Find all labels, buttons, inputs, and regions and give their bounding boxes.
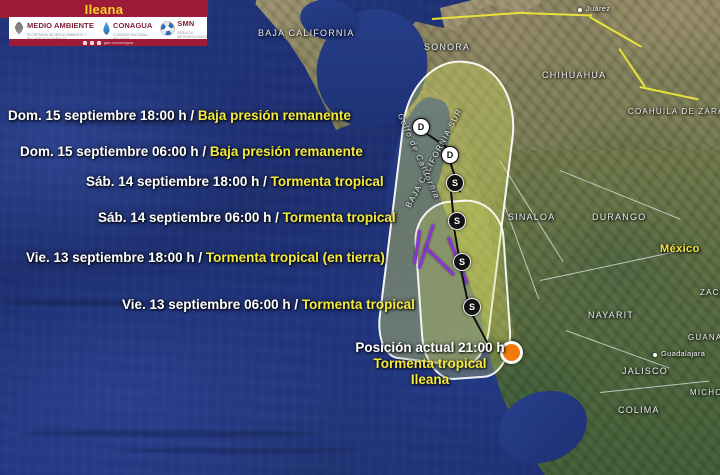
forecast-category: Baja presión remanente — [198, 108, 351, 123]
social-icon[interactable] — [90, 41, 94, 45]
forecast-separator: / — [198, 250, 202, 265]
forecast-category: Tormenta tropical (en tierra) — [206, 250, 385, 265]
forecast-line-1: Dom. 15 septiembre 06:00 h / Baja presió… — [20, 144, 363, 159]
track-marker-depression[interactable]: D — [441, 146, 459, 164]
logo-medio-ambiente: MEDIO AMBIENTE SECRETARIA DE MEDIO AMBIE… — [9, 17, 98, 39]
track-marker-storm[interactable]: S — [448, 212, 466, 230]
forecast-datetime: Vie. 13 septiembre 18:00 h — [26, 250, 195, 265]
forecast-separator: / — [275, 210, 279, 225]
eagle-emblem-icon — [13, 22, 25, 35]
current-position-name: Ileana — [330, 372, 530, 387]
track-marker-storm[interactable]: S — [453, 253, 471, 271]
forecast-line-0: Dom. 15 septiembre 18:00 h / Baja presió… — [8, 108, 351, 123]
water-drop-icon — [102, 22, 111, 35]
forecast-category: Tormenta tropical — [302, 297, 415, 312]
forecast-line-4: Vie. 13 septiembre 18:00 h / Tormenta tr… — [26, 250, 385, 265]
forecast-datetime: Sáb. 14 septiembre 06:00 h — [98, 210, 271, 225]
header-footer-bar: gob.mx/conagua — [9, 39, 207, 46]
logo-title: SMN — [177, 19, 194, 28]
forecast-separator: / — [190, 108, 194, 123]
ocean-streak — [120, 448, 360, 453]
city-dot-juarez — [578, 8, 582, 12]
forecast-separator: / — [294, 297, 298, 312]
ocean-streak — [20, 430, 320, 437]
header-panel: Ileana MEDIO AMBIENTE SECRETARIA DE MEDI… — [0, 0, 208, 46]
forecast-separator: / — [202, 144, 206, 159]
current-position-callout: Posición actual 21:00 h Tormenta tropica… — [330, 340, 530, 387]
logo-title: CONAGUA — [113, 21, 152, 30]
header-footer-text: gob.mx/conagua — [104, 41, 133, 45]
logo-title: MEDIO AMBIENTE — [27, 21, 94, 30]
forecast-category: Tormenta tropical — [283, 210, 396, 225]
track-marker-depression[interactable]: D — [412, 118, 430, 136]
hurricane-track-map: D D S S S S BAJA CALIFORNIA BAJA CALIFOR… — [0, 0, 720, 475]
forecast-datetime: Dom. 15 septiembre 18:00 h — [8, 108, 187, 123]
social-icon[interactable] — [83, 41, 87, 45]
smn-compass-icon — [160, 21, 175, 36]
current-position-time: Posición actual 21:00 h — [330, 340, 530, 355]
logo-conagua: CONAGUA COMISION NACIONAL DEL AGUA — [98, 17, 156, 39]
social-icon[interactable] — [97, 41, 101, 45]
forecast-line-3: Sáb. 14 septiembre 06:00 h / Tormenta tr… — [98, 210, 396, 225]
agency-logo-bar: MEDIO AMBIENTE SECRETARIA DE MEDIO AMBIE… — [9, 17, 207, 40]
forecast-datetime: Vie. 13 septiembre 06:00 h — [122, 297, 291, 312]
track-marker-storm[interactable]: S — [463, 298, 481, 316]
forecast-datetime: Dom. 15 septiembre 06:00 h — [20, 144, 199, 159]
forecast-datetime: Sáb. 14 septiembre 18:00 h — [86, 174, 259, 189]
forecast-separator: / — [263, 174, 267, 189]
forecast-category: Tormenta tropical — [271, 174, 384, 189]
forecast-line-5: Vie. 13 septiembre 06:00 h / Tormenta tr… — [122, 297, 415, 312]
logo-smn: SMN SERVICIO METEOROLOGICO NACIONAL — [156, 17, 211, 39]
forecast-category: Baja presión remanente — [210, 144, 363, 159]
track-marker-storm[interactable]: S — [446, 174, 464, 192]
current-position-category: Tormenta tropical — [330, 356, 530, 371]
forecast-line-2: Sáb. 14 septiembre 18:00 h / Tormenta tr… — [86, 174, 384, 189]
city-dot-guadalajara — [653, 353, 657, 357]
